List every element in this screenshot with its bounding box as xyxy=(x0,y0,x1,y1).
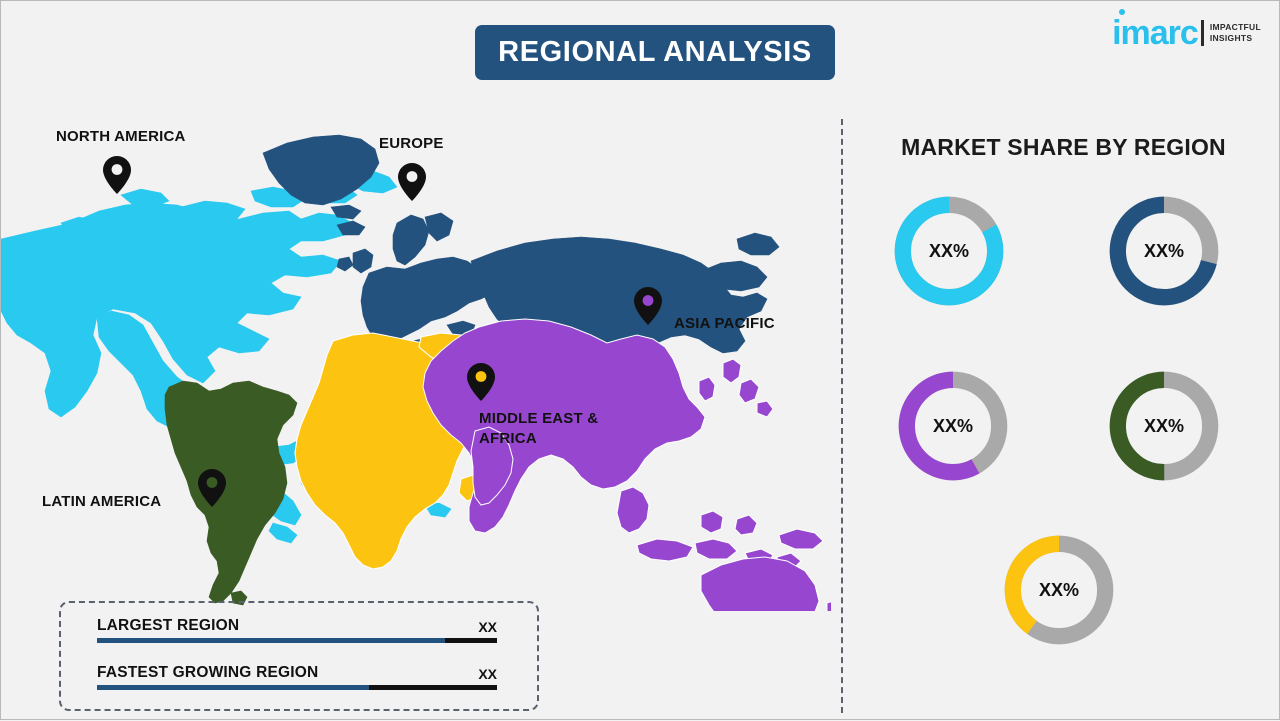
key-regions-box: LARGEST REGION XX FASTEST GROWING REGION… xyxy=(59,601,539,711)
donut-center-label: XX% xyxy=(1103,365,1225,487)
donut-center-label: XX% xyxy=(998,529,1120,651)
page-title-banner: REGIONAL ANALYSIS xyxy=(475,25,835,80)
regional-analysis-infographic: REGIONAL ANALYSIS imarc IMPACTFUL INSIGH… xyxy=(0,0,1280,720)
stat-progress-fill xyxy=(97,638,445,643)
donut-center-label: XX% xyxy=(892,365,1014,487)
region-label-latin-america: LATIN AMERICA xyxy=(42,492,161,512)
stat-progress-track xyxy=(97,638,497,643)
region-label-north-america: NORTH AMERICA xyxy=(56,127,186,147)
donut-center-label: XX% xyxy=(888,190,1010,312)
donut-chart-asia-pacific: XX% xyxy=(892,365,1014,487)
region-label-asia-pacific: ASIA PACIFIC xyxy=(674,314,775,334)
market-share-panel: MARKET SHARE BY REGION XX% XX% XX% xyxy=(846,1,1280,721)
map-pin-middle-east-africa[interactable] xyxy=(467,363,495,401)
donut-chart-middle-east-africa: XX% xyxy=(998,529,1120,651)
region-label-europe: EUROPE xyxy=(379,134,444,154)
map-region-latin-america xyxy=(165,381,297,605)
stat-value: XX xyxy=(478,619,497,635)
map-pin-europe[interactable] xyxy=(398,163,426,201)
world-map-panel xyxy=(1,91,831,611)
stat-header: LARGEST REGION XX xyxy=(97,617,497,638)
stat-value: XX xyxy=(478,666,497,682)
stat-label: LARGEST REGION xyxy=(97,617,239,635)
donut-chart-latin-america: XX% xyxy=(1103,365,1225,487)
page-title: REGIONAL ANALYSIS xyxy=(498,36,812,69)
donut-chart-north-america: XX% xyxy=(888,190,1010,312)
region-label-middle-east-africa: MIDDLE EAST & AFRICA xyxy=(479,409,598,449)
stat-progress-fill xyxy=(97,685,369,690)
market-share-heading: MARKET SHARE BY REGION xyxy=(846,134,1280,161)
vertical-dashed-divider xyxy=(841,119,843,713)
map-pin-asia-pacific[interactable] xyxy=(634,287,662,325)
map-pin-latin-america[interactable] xyxy=(198,469,226,507)
stat-row-largest-region: LARGEST REGION XX xyxy=(97,617,497,643)
stat-header: FASTEST GROWING REGION XX xyxy=(97,664,497,685)
stat-label: FASTEST GROWING REGION xyxy=(97,664,318,682)
map-pin-north-america[interactable] xyxy=(103,156,131,194)
stat-progress-track xyxy=(97,685,497,690)
donut-chart-europe: XX% xyxy=(1103,190,1225,312)
stat-row-fastest-growing-region: FASTEST GROWING REGION XX xyxy=(97,664,497,690)
donut-center-label: XX% xyxy=(1103,190,1225,312)
